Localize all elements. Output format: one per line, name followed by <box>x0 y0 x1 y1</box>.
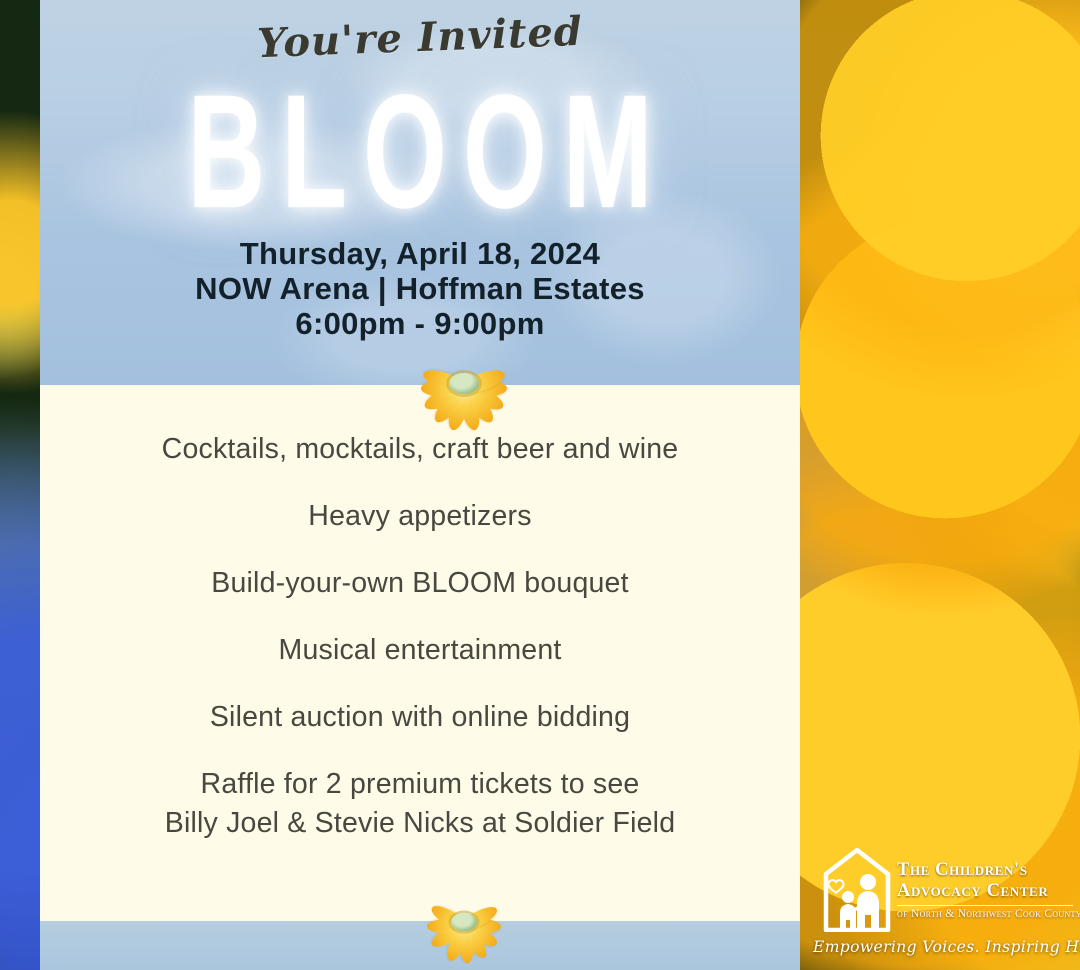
event-time: 6:00pm - 9:00pm <box>40 306 800 342</box>
event-details-list: Cocktails, mocktails, craft beer and win… <box>40 430 800 843</box>
flower-icon-bottom <box>414 900 514 952</box>
event-date: Thursday, April 18, 2024 <box>40 236 800 272</box>
list-item: Build-your-own BLOOM bouquet <box>40 564 800 603</box>
logo-tagline: Empowering Voices. Inspiring Hope. <box>813 938 1075 956</box>
list-item: Heavy appetizers <box>40 497 800 536</box>
logo-line-3: of North & Northwest Cook County <box>897 908 1073 920</box>
logo-wordmark: The Children's Advocacy Center of North … <box>897 860 1073 920</box>
organization-logo: The Children's Advocacy Center of North … <box>823 848 1073 960</box>
logo-divider <box>897 905 1073 906</box>
logo-line-2: Advocacy Center <box>897 881 1073 902</box>
list-item: Cocktails, mocktails, craft beer and win… <box>40 430 800 469</box>
list-item: Billy Joel & Stevie Nicks at Soldier Fie… <box>40 804 800 843</box>
background-photo-right-overlay <box>780 0 1080 970</box>
house-with-family-and-heart-icon <box>823 848 891 932</box>
list-item: Silent auction with online bidding <box>40 698 800 737</box>
event-venue: NOW Arena | Hoffman Estates <box>40 271 800 307</box>
logo-line-1: The Children's <box>897 860 1073 881</box>
list-item: Raffle for 2 premium tickets to see <box>40 765 800 804</box>
event-title: BLOOM <box>146 70 693 232</box>
list-item: Musical entertainment <box>40 631 800 670</box>
flower-icon-top <box>406 358 522 418</box>
invitation-card: You're Invited BLOOM Thursday, April 18,… <box>40 0 800 970</box>
